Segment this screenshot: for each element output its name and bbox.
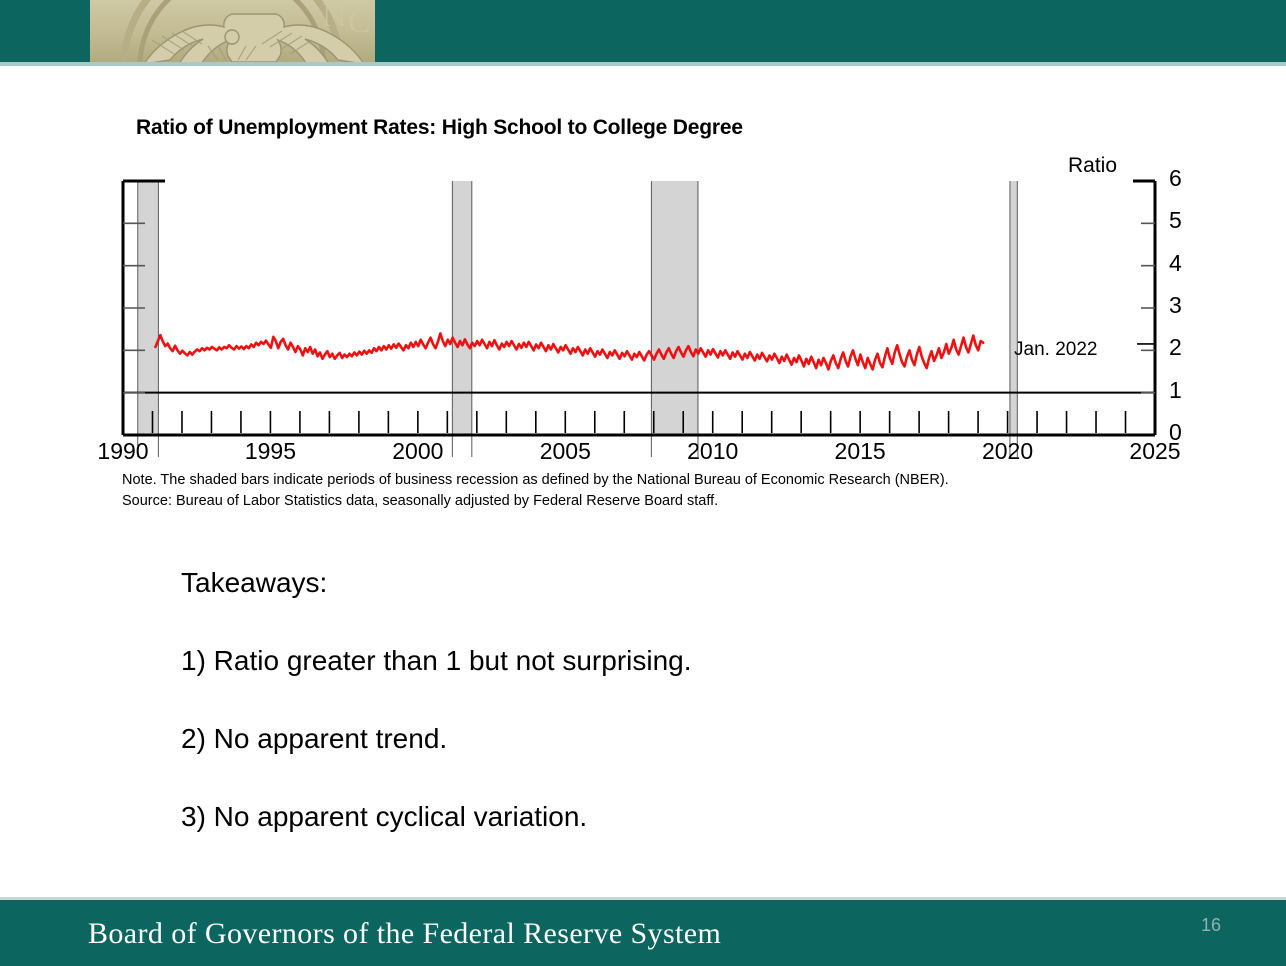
takeaways-heading: Takeaways: bbox=[181, 566, 1081, 600]
x-axis-tick-1995: 1995 bbox=[245, 438, 296, 465]
svg-text:C: C bbox=[348, 3, 371, 40]
x-axis-tick-2015: 2015 bbox=[835, 438, 886, 465]
slide-page-number: 16 bbox=[1201, 915, 1221, 936]
takeaway-item-3: 3) No apparent cyclical variation. bbox=[181, 800, 1081, 834]
y-axis-tick-6: 6 bbox=[1169, 165, 1182, 192]
takeaway-item-2: 2) No apparent trend. bbox=[181, 722, 1081, 756]
federal-reserve-eagle-seal-icon: N C bbox=[90, 0, 375, 62]
unemployment-ratio-chart bbox=[0, 0, 1286, 520]
takeaway-item-1: 1) Ratio greater than 1 but not surprisi… bbox=[181, 644, 1081, 678]
x-axis-tick-2010: 2010 bbox=[687, 438, 738, 465]
x-axis-tick-1990: 1990 bbox=[97, 438, 148, 465]
x-axis-tick-2020: 2020 bbox=[982, 438, 1033, 465]
header-divider bbox=[0, 62, 1286, 66]
x-axis-tick-2025: 2025 bbox=[1129, 438, 1180, 465]
y-axis-tick-1: 1 bbox=[1169, 377, 1182, 404]
source-line: Source: Bureau of Labor Statistics data,… bbox=[122, 491, 1162, 512]
page-title: Ratio of Unemployment Rates: High School… bbox=[136, 116, 743, 140]
y-axis-label: Ratio bbox=[1068, 154, 1117, 178]
y-axis-tick-5: 5 bbox=[1169, 207, 1182, 234]
y-axis-tick-3: 3 bbox=[1169, 292, 1182, 319]
footer-institution-name: Board of Governors of the Federal Reserv… bbox=[88, 917, 721, 951]
footer-band: Board of Governors of the Federal Reserv… bbox=[0, 900, 1286, 966]
y-axis-tick-4: 4 bbox=[1169, 250, 1182, 277]
x-axis-tick-2000: 2000 bbox=[392, 438, 443, 465]
series-endpoint-label: Jan. 2022 bbox=[1014, 339, 1097, 361]
chart-notes: Note. The shaded bars indicate periods o… bbox=[122, 470, 1162, 512]
svg-text:N: N bbox=[322, 0, 347, 34]
note-line: Note. The shaded bars indicate periods o… bbox=[122, 470, 1162, 491]
x-axis-tick-2005: 2005 bbox=[540, 438, 591, 465]
y-axis-tick-2: 2 bbox=[1169, 334, 1182, 361]
takeaways-block: Takeaways: 1) Ratio greater than 1 but n… bbox=[181, 566, 1081, 834]
